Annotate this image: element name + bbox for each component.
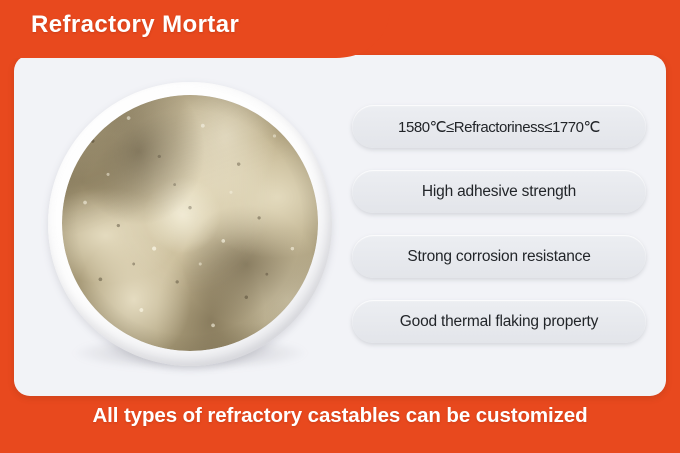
feature-pill-thermal-flaking: Good thermal flaking property <box>352 300 646 343</box>
bowl-inner-rim <box>62 95 318 351</box>
feature-pill-label: High adhesive strength <box>422 183 576 201</box>
feature-pill-label: 1580℃≤Refractoriness≤1770℃ <box>398 118 600 136</box>
feature-list: 1580℃≤Refractoriness≤1770℃ High adhesive… <box>352 105 646 343</box>
feature-pill-corrosion-resistance: Strong corrosion resistance <box>352 235 646 278</box>
infographic-banner: Refractory Mortar 1580℃≤Refractoriness≤1… <box>0 0 680 453</box>
powder-shading <box>62 95 318 351</box>
feature-pill-refractoriness: 1580℃≤Refractoriness≤1770℃ <box>352 105 646 148</box>
page-title: Refractory Mortar <box>31 11 239 39</box>
feature-pill-adhesive-strength: High adhesive strength <box>352 170 646 213</box>
mortar-powder <box>62 95 318 351</box>
feature-pill-label: Good thermal flaking property <box>400 313 598 331</box>
bowl-rim <box>48 82 332 366</box>
footer-caption: All types of refractory castables can be… <box>0 404 680 428</box>
product-image <box>44 78 340 378</box>
feature-pill-label: Strong corrosion resistance <box>407 248 590 266</box>
